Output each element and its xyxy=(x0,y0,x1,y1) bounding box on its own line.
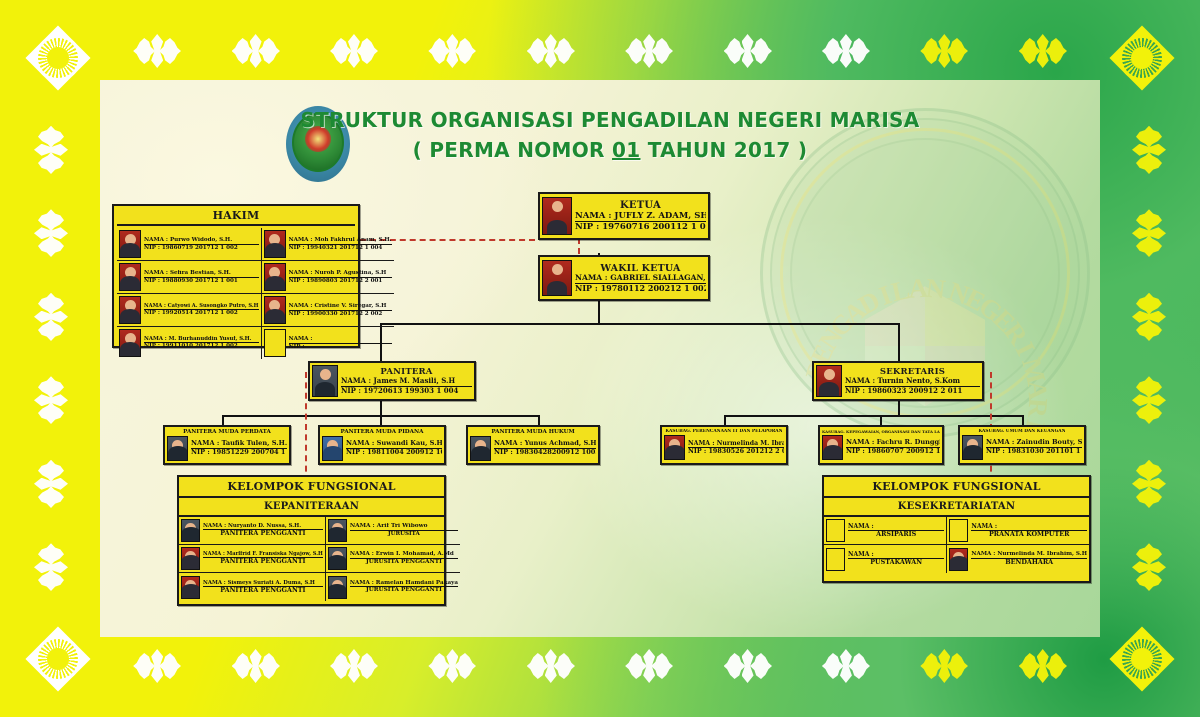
member-role: JURUSITA PENGGANTI xyxy=(350,587,458,594)
fungsional-member[interactable]: NAMA : PUSTAKAWAN xyxy=(824,545,947,573)
connector-kasubag-bar xyxy=(724,415,1022,417)
subtitle-kepaniteraan: KEPANITERAAN xyxy=(179,498,444,517)
kasubag-1-nip: NIP : 19830526 201212 2 001 xyxy=(688,448,784,456)
member-role: PUSTAKAWAN xyxy=(848,559,944,567)
title-line-2: ( PERMA NOMOR 01 TAHUN 2017 ) xyxy=(300,138,920,162)
member-name: NAMA : Erwin I. Mohamad, A.Md xyxy=(350,551,458,559)
avatar xyxy=(264,263,286,291)
pm-hukum-name: NAMA : Yunus Achmad, S.H. xyxy=(494,440,596,449)
pm-perdata-name: NAMA : Taufik Tulen, S.H. xyxy=(191,440,287,449)
connector-to-sekretaris xyxy=(898,323,900,361)
avatar xyxy=(322,436,343,461)
avatar xyxy=(328,519,347,542)
hakim-nip: NIP : 19940321 201712 1 004 xyxy=(289,245,392,252)
heading-kasubag-perencanaan: KASUBAG. PERENCANAAN IT DAN PELAPORAN xyxy=(664,429,784,434)
fungsional-member[interactable]: NAMA : Sismeys Suriati A. Duma, S.H PANI… xyxy=(179,573,326,601)
ornament-motif-icon xyxy=(1124,124,1174,176)
box-panitera-muda-perdata[interactable]: PANITERA MUDA PERDATA NAMA : Taufik Tule… xyxy=(163,425,291,465)
ornament-strip-left xyxy=(14,108,88,609)
avatar xyxy=(264,230,286,258)
box-title-wakil-ketua: WAKIL KETUA xyxy=(575,263,706,274)
fungsional-member[interactable]: NAMA : Erwin I. Mohamad, A.Md JURUSITA P… xyxy=(326,545,460,573)
fungsional-member[interactable]: NAMA : Marlfrid F. Fransiska Ngajow, S.H… xyxy=(179,545,326,573)
avatar xyxy=(312,365,338,397)
sekretaris-name: NAMA : Turnin Nento, S.Kom xyxy=(845,377,980,386)
corner-flower-icon xyxy=(1096,613,1188,705)
kasubag-3-nip: NIP : 19831030 201101 1 006 xyxy=(986,448,1082,456)
hakim-member[interactable]: NAMA : NIP : xyxy=(262,327,394,359)
pm-hukum-nip: NIP : 19830428200912 1003 xyxy=(494,449,596,457)
member-role: PANITERA PENGGANTI xyxy=(203,587,323,595)
connector-kasubag-1 xyxy=(724,415,726,425)
pm-perdata-nip: NIP : 19851229 200704 1 002 xyxy=(191,449,287,457)
box-ketua[interactable]: KETUA NAMA : JUFLY Z. ADAM, SH NIP : 197… xyxy=(538,192,710,240)
title-line-1: STRUKTUR ORGANISASI PENGADILAN NEGERI MA… xyxy=(300,108,920,132)
connector-pm-perdata xyxy=(222,415,224,425)
title-fungsional-kesekretariatan: KELOMPOK FUNGSIONAL xyxy=(824,477,1089,498)
hakim-nip: NIP : 19900330 201712 2 002 xyxy=(289,311,392,318)
avatar xyxy=(264,296,286,324)
hakim-member[interactable]: NAMA : Sefira Bestian, S.H. NIP : 198809… xyxy=(117,261,262,294)
ornament-motif-icon xyxy=(722,26,774,76)
hakim-nip: NIP : 19911010 201712 1 002 xyxy=(144,343,259,350)
connector-kasubag-3 xyxy=(1022,415,1024,425)
ornament-motif-icon xyxy=(426,26,478,76)
connector-dash-kepaniteraan xyxy=(305,372,307,482)
hakim-name: NAMA : Moh Fakhrul Anam, S.H. xyxy=(289,237,392,245)
hakim-nip: NIP : 19890803 201712 2 001 xyxy=(289,278,392,285)
avatar-placeholder xyxy=(264,329,286,357)
ornament-motif-icon xyxy=(26,458,76,510)
fungsional-member[interactable]: NAMA : Nuryanto D. Nussa, S.H. PANITERA … xyxy=(179,517,326,545)
member-role: PRANATA KOMPUTER xyxy=(971,531,1087,539)
box-kasubag-perencanaan[interactable]: KASUBAG. PERENCANAAN IT DAN PELAPORAN NA… xyxy=(660,425,788,465)
member-role: BENDAHARA xyxy=(971,559,1087,567)
hakim-nip: NIP : xyxy=(289,344,392,351)
ornament-motif-icon xyxy=(1124,458,1174,510)
ornament-motif-icon xyxy=(1017,26,1069,76)
ornament-motif-icon xyxy=(525,26,577,76)
ornament-motif-icon xyxy=(1017,641,1069,691)
ornament-motif-icon xyxy=(328,641,380,691)
box-fungsional-kepaniteraan[interactable]: KELOMPOK FUNGSIONAL KEPANITERAAN NAMA : … xyxy=(177,475,446,606)
ornament-motif-icon xyxy=(230,26,282,76)
box-kasubag-umum[interactable]: KASUBAG. UMUM DAN KEUANGAN NAMA : Zainud… xyxy=(958,425,1086,465)
box-panitera-muda-pidana[interactable]: PANITERA MUDA PIDANA NAMA : Suwandi Kau,… xyxy=(318,425,446,465)
corner-flower-icon xyxy=(12,12,104,104)
ornament-motif-icon xyxy=(26,124,76,176)
connector-main-horizontal xyxy=(380,323,900,325)
corner-flower-icon xyxy=(12,613,104,705)
ornament-motif-icon xyxy=(918,26,970,76)
avatar-placeholder xyxy=(826,519,845,542)
avatar xyxy=(119,296,141,324)
ornament-motif-icon xyxy=(328,26,380,76)
sekretaris-nip: NIP : 19860323 200912 2 011 xyxy=(845,387,980,395)
ornament-motif-icon xyxy=(230,641,282,691)
ornament-motif-icon xyxy=(820,26,872,76)
box-sekretaris[interactable]: SEKRETARIS NAMA : Turnin Nento, S.Kom NI… xyxy=(812,361,984,401)
hakim-name: NAMA : Nuroh P. Agustina, S.H xyxy=(289,270,392,278)
avatar-placeholder xyxy=(949,519,968,542)
hakim-member[interactable]: NAMA : Cristine V. Siregar, S.H NIP : 19… xyxy=(262,294,394,327)
avatar xyxy=(181,547,200,570)
avatar xyxy=(181,519,200,542)
member-role: ARSIPARIS xyxy=(848,531,944,539)
ornament-motif-icon xyxy=(1124,291,1174,343)
box-title-panitera: PANITERA xyxy=(341,367,472,377)
ornament-motif-icon xyxy=(26,374,76,426)
avatar xyxy=(542,260,572,296)
fungsional-member[interactable]: NAMA : PRANATA KOMPUTER xyxy=(947,517,1089,545)
connector-panitera-down xyxy=(380,401,382,415)
heading-kasubag-umum: KASUBAG. UMUM DAN KEUANGAN xyxy=(962,429,1082,434)
hakim-name: NAMA : Purwo Widodo, S.H. xyxy=(144,237,259,245)
ornament-motif-icon xyxy=(820,641,872,691)
panitera-nip: NIP : 19720613 199303 1 004 xyxy=(341,387,472,395)
avatar xyxy=(949,548,968,571)
ornament-motif-icon xyxy=(131,26,183,76)
subtitle-kesekretariatan: KESEKRETARIATAN xyxy=(824,498,1089,517)
avatar xyxy=(181,576,200,599)
avatar xyxy=(328,576,347,599)
wakil-ketua-name: NAMA : GABRIEL SIALLAGAN,S.H.,M.H xyxy=(575,274,706,284)
box-title-ketua: KETUA xyxy=(575,200,706,212)
title-line-2-suffix: TAHUN 2017 ) xyxy=(640,138,807,162)
hakim-nip: NIP : 19920514 201712 1 002 xyxy=(144,310,259,317)
hakim-member[interactable]: NAMA : Moh Fakhrul Anam, S.H. NIP : 1994… xyxy=(262,228,394,261)
member-role: PANITERA PENGGANTI xyxy=(203,530,323,538)
ornament-motif-icon xyxy=(26,291,76,343)
corner-flower-icon xyxy=(1096,12,1188,104)
member-role: JURUSITA xyxy=(350,531,458,538)
avatar xyxy=(167,436,188,461)
ornament-motif-icon xyxy=(1124,207,1174,259)
kasubag-3-name: NAMA : Zainudin Bouty, S.Kom xyxy=(986,439,1082,448)
hakim-nip: NIP : 19880930 201712 1 001 xyxy=(144,278,259,285)
connector-pm-pidana xyxy=(380,415,382,425)
ornament-motif-icon xyxy=(918,641,970,691)
box-title-sekretaris: SEKRETARIS xyxy=(845,367,980,377)
connector-kasubag-2 xyxy=(880,415,882,425)
hakim-name: NAMA : Cristine V. Siregar, S.H xyxy=(289,303,392,311)
box-panitera-muda-hukum[interactable]: PANITERA MUDA HUKUM NAMA : Yunus Achmad,… xyxy=(466,425,600,465)
avatar xyxy=(470,436,491,461)
organization-chart-poster: P E N G A D I L A N N E G E R I M A R I xyxy=(0,0,1200,717)
avatar xyxy=(962,435,983,460)
fungsional-member[interactable]: NAMA : Ramelan Hamdani Pakaya JURUSITA P… xyxy=(326,573,460,601)
ornament-strip-top xyxy=(108,14,1092,88)
ornament-motif-icon xyxy=(1124,374,1174,426)
avatar xyxy=(542,197,572,235)
hakim-name: NAMA : Catyowi A. Susongko Putro, S.H xyxy=(144,303,259,310)
ornament-motif-icon xyxy=(525,641,577,691)
fungsional-member[interactable]: NAMA : Nurmelinda M. Ibrahim, S.H BENDAH… xyxy=(947,545,1089,573)
avatar xyxy=(119,263,141,291)
fungsional-member[interactable]: NAMA : ARSIPARIS xyxy=(824,517,947,545)
avatar xyxy=(664,435,685,460)
ketua-name: NAMA : JUFLY Z. ADAM, SH xyxy=(575,211,706,222)
hakim-member[interactable]: NAMA : M. Burhanuddin Yusuf, S.H. NIP : … xyxy=(117,327,262,359)
ornament-motif-icon xyxy=(426,641,478,691)
hakim-name: NAMA : Sefira Bestian, S.H. xyxy=(144,270,259,278)
title-line-2-prefix: ( PERMA NOMOR xyxy=(413,138,612,162)
hakim-name: NAMA : xyxy=(289,336,392,344)
kasubag-2-nip: NIP : 19860707 200912 1 007 xyxy=(846,448,940,456)
connector-pm-hukum xyxy=(538,415,540,425)
kasubag-1-name: NAMA : Nurmelinda M. Ibrahim, S.H. xyxy=(688,440,784,448)
hakim-nip: NIP : 19860719 201712 1 002 xyxy=(144,245,259,252)
title-line-2-number: 01 xyxy=(612,138,640,162)
box-title-hakim: HAKIM xyxy=(117,209,355,226)
hakim-name: NAMA : M. Burhanuddin Yusuf, S.H. xyxy=(144,336,259,343)
ornament-strip-right xyxy=(1112,108,1186,609)
ornament-motif-icon xyxy=(26,207,76,259)
box-hakim[interactable]: HAKIM NAMA : Purwo Widodo, S.H. NIP : 19… xyxy=(112,204,360,348)
wakil-ketua-nip: NIP : 19780112 200212 1 002 xyxy=(575,284,706,293)
avatar xyxy=(816,365,842,397)
ornament-motif-icon xyxy=(1124,541,1174,593)
heading-kasubag-kepegawaian: KASUBAG. KEPEGAWAIAN, ORGANISASI DAN TAT… xyxy=(822,429,940,434)
hakim-member[interactable]: NAMA : Nuroh P. Agustina, S.H NIP : 1989… xyxy=(262,261,394,294)
avatar xyxy=(328,547,347,570)
title-fungsional-kepaniteraan: KELOMPOK FUNGSIONAL xyxy=(179,477,444,498)
pm-pidana-nip: NIP : 19811004 200912 1004 xyxy=(346,449,442,457)
hakim-member[interactable]: NAMA : Catyowi A. Susongko Putro, S.H NI… xyxy=(117,294,262,327)
box-panitera[interactable]: PANITERA NAMA : James M. Masili, S.H NIP… xyxy=(308,361,476,401)
page-title: STRUKTUR ORGANISASI PENGADILAN NEGERI MA… xyxy=(300,108,920,162)
pm-pidana-name: NAMA : Suwandi Kau, S.H. xyxy=(346,440,442,449)
box-wakil-ketua[interactable]: WAKIL KETUA NAMA : GABRIEL SIALLAGAN,S.H… xyxy=(538,255,710,301)
member-role: PANITERA PENGGANTI xyxy=(203,558,323,566)
heading-panitera-muda-perdata: PANITERA MUDA PERDATA xyxy=(167,429,287,435)
ornament-motif-icon xyxy=(722,641,774,691)
hakim-member[interactable]: NAMA : Purwo Widodo, S.H. NIP : 19860719… xyxy=(117,228,262,261)
panitera-name: NAMA : James M. Masili, S.H xyxy=(341,377,472,386)
member-role: JURUSITA PENGGANTI xyxy=(350,559,458,566)
member-name: NAMA : Ramelan Hamdani Pakaya xyxy=(350,580,458,588)
ornament-motif-icon xyxy=(26,541,76,593)
box-kasubag-kepegawaian[interactable]: KASUBAG. KEPEGAWAIAN, ORGANISASI DAN TAT… xyxy=(818,425,944,465)
ornament-motif-icon xyxy=(623,26,675,76)
connector-sekretaris-down xyxy=(898,401,900,415)
ornament-strip-bottom xyxy=(108,629,1092,703)
ketua-nip: NIP : 19760716 200112 1 002 xyxy=(575,222,706,232)
ornament-motif-icon xyxy=(623,641,675,691)
avatar xyxy=(119,329,141,357)
box-fungsional-kesekretariatan[interactable]: KELOMPOK FUNGSIONAL KESEKRETARIATAN NAMA… xyxy=(822,475,1091,583)
ornament-motif-icon xyxy=(131,641,183,691)
avatar xyxy=(119,230,141,258)
fungsional-member[interactable]: NAMA : Arif Tri Wibowo JURUSITA xyxy=(326,517,460,545)
avatar xyxy=(822,435,843,460)
avatar-placeholder xyxy=(826,548,845,571)
kasubag-2-name: NAMA : Fachru R. Dunggio, A.Md xyxy=(846,439,940,448)
member-name: NAMA : Arif Tri Wibowo xyxy=(350,523,458,531)
